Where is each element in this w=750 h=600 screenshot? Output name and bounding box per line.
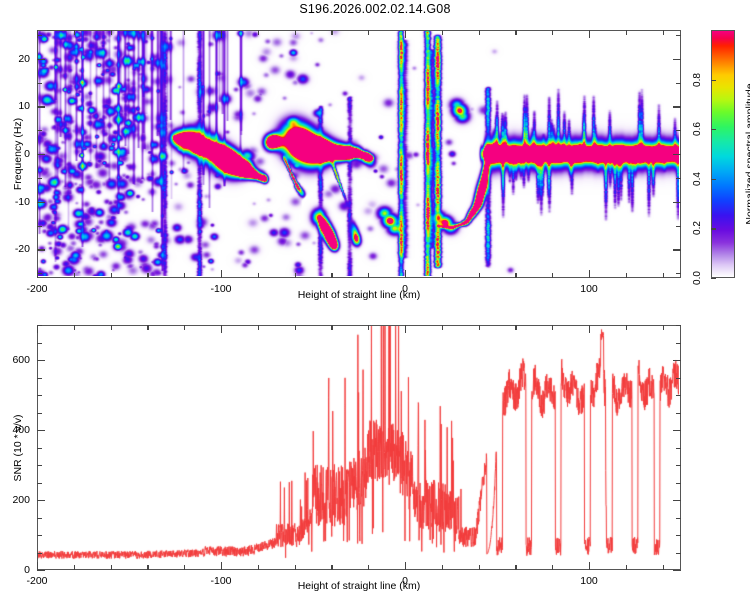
spectrogram-tick-label: 10 <box>18 100 30 112</box>
snr-tick-label: 100 <box>580 575 598 587</box>
snr-tick-mark <box>258 325 259 330</box>
snr-plot-area <box>38 326 679 568</box>
snr-tick-mark <box>676 395 681 396</box>
spectrogram-tick-mark <box>295 273 296 278</box>
spectrogram-tick-label: -10 <box>15 196 30 208</box>
snr-tick-mark <box>405 562 406 570</box>
snr-tick-mark <box>184 565 185 570</box>
spectrogram-tick-mark <box>663 30 664 35</box>
colorbar-tick-mark <box>711 80 716 81</box>
snr-tick-mark <box>295 565 296 570</box>
colorbar-tick-mark <box>711 228 716 229</box>
spectrogram-tick-mark <box>37 59 45 60</box>
spectrogram-tick-label: -100 <box>210 283 231 295</box>
spectrogram-tick-mark <box>74 30 75 35</box>
spectrogram-tick-mark <box>331 273 332 278</box>
spectrogram-tick-mark <box>479 30 480 35</box>
spectrogram-tick-mark <box>37 130 42 131</box>
snr-xaxis-title: Height of straight line (km) <box>298 580 421 592</box>
snr-tick-mark <box>111 565 112 570</box>
spectrogram-tick-mark <box>147 273 148 278</box>
spectrogram-tick-mark <box>221 30 222 38</box>
snr-tick-mark <box>37 413 42 414</box>
snr-tick-mark <box>626 325 627 330</box>
snr-tick-mark <box>676 378 681 379</box>
spectrogram-tick-mark <box>676 83 681 84</box>
spectrogram-xaxis-title: Height of straight line (km) <box>298 289 421 301</box>
snr-tick-mark <box>663 565 664 570</box>
snr-tick-mark <box>589 325 590 333</box>
snr-tick-mark <box>676 448 681 449</box>
spectrogram-tick-mark <box>626 30 627 35</box>
spectrogram-tick-mark <box>479 273 480 278</box>
colorbar-gradient <box>711 30 735 278</box>
snr-tick-mark <box>442 565 443 570</box>
spectrogram-yaxis-title: Frequency (Hz) <box>12 118 24 190</box>
colorbar-title: Normalized spectral amplitude <box>744 83 750 224</box>
snr-tick-mark <box>676 553 681 554</box>
snr-tick-mark <box>37 343 42 344</box>
snr-tick-mark <box>626 565 627 570</box>
spectrogram-tick-mark <box>37 154 45 155</box>
spectrogram-tick-mark <box>37 106 45 107</box>
spectrogram-tick-mark <box>37 202 45 203</box>
colorbar-tick-label: 0.0 <box>692 271 703 285</box>
snr-tick-mark <box>37 325 38 333</box>
spectrogram-tick-mark <box>368 30 369 35</box>
snr-tick-mark <box>479 565 480 570</box>
colorbar-tick-mark <box>711 278 716 279</box>
spectrogram-tick-mark <box>111 273 112 278</box>
snr-tick-mark <box>37 570 45 571</box>
spectrogram-tick-mark <box>442 273 443 278</box>
spectrogram-tick-mark <box>676 273 681 274</box>
spectrogram-tick-mark <box>676 130 681 131</box>
spectrogram-canvas <box>38 31 679 276</box>
snr-tick-mark <box>405 325 406 333</box>
colorbar-tick-label: 0.6 <box>692 122 703 136</box>
spectrogram-tick-mark <box>147 30 148 35</box>
snr-tick-mark <box>515 325 516 330</box>
spectrogram-tick-label: 0 <box>24 148 30 160</box>
snr-tick-mark <box>147 565 148 570</box>
spectrogram-tick-mark <box>673 106 681 107</box>
snr-tick-mark <box>676 483 681 484</box>
colorbar-tick-mark <box>711 129 716 130</box>
snr-tick-mark <box>37 378 42 379</box>
spectrogram-tick-mark <box>589 30 590 38</box>
spectrogram-tick-mark <box>552 30 553 35</box>
snr-tick-mark <box>676 518 681 519</box>
spectrogram-tick-mark <box>37 273 42 274</box>
snr-tick-mark <box>676 343 681 344</box>
spectrogram-tick-mark <box>663 273 664 278</box>
snr-tick-mark <box>673 500 681 501</box>
snr-tick-mark <box>37 325 42 326</box>
spectrogram-tick-mark <box>673 154 681 155</box>
snr-tick-mark <box>147 325 148 330</box>
snr-tick-mark <box>37 518 42 519</box>
spectrogram-tick-mark <box>37 226 42 227</box>
snr-tick-mark <box>331 325 332 330</box>
spectrogram-tick-mark <box>442 30 443 35</box>
spectrogram-tick-mark <box>676 226 681 227</box>
snr-tick-mark <box>676 325 681 326</box>
spectrogram-tick-mark <box>673 202 681 203</box>
spectrogram-tick-label: 100 <box>580 283 598 295</box>
spectrogram-tick-mark <box>184 273 185 278</box>
snr-tick-mark <box>589 562 590 570</box>
snr-tick-mark <box>37 360 45 361</box>
snr-tick-mark <box>37 465 42 466</box>
spectrogram-tick-mark <box>515 30 516 35</box>
spectrogram-tick-mark <box>368 273 369 278</box>
snr-tick-label: -100 <box>210 575 231 587</box>
spectrogram-tick-mark <box>37 35 42 36</box>
snr-yaxis-title: SNR (10 * v/v) <box>12 414 24 481</box>
snr-tick-mark <box>368 565 369 570</box>
spectrogram-tick-mark <box>184 30 185 35</box>
snr-tick-label: -200 <box>26 575 47 587</box>
spectrogram-tick-mark <box>552 273 553 278</box>
spectrogram-tick-mark <box>74 273 75 278</box>
spectrogram-tick-mark <box>676 35 681 36</box>
colorbar-tick-label: 0.2 <box>692 221 703 235</box>
spectrogram-tick-mark <box>515 273 516 278</box>
snr-tick-mark <box>295 325 296 330</box>
spectrogram-tick-mark <box>221 270 222 278</box>
colorbar-tick-label: 0.8 <box>692 73 703 87</box>
spectrogram-tick-mark <box>405 270 406 278</box>
snr-tick-mark <box>673 360 681 361</box>
spectrogram-tick-mark <box>258 273 259 278</box>
snr-tick-mark <box>37 430 45 431</box>
snr-tick-mark <box>515 565 516 570</box>
snr-tick-mark <box>37 562 38 570</box>
spectrogram-tick-mark <box>295 30 296 35</box>
spectrogram-tick-mark <box>626 273 627 278</box>
spectrogram-tick-mark <box>37 83 42 84</box>
snr-tick-mark <box>258 565 259 570</box>
snr-tick-mark <box>74 565 75 570</box>
snr-tick-mark <box>676 413 681 414</box>
figure-title: S196.2026.002.02.14.G08 <box>0 2 750 16</box>
snr-canvas <box>38 326 679 568</box>
snr-tick-mark <box>37 553 42 554</box>
spectrogram-tick-label: -200 <box>26 283 47 295</box>
snr-tick-label: 0 <box>24 564 30 576</box>
snr-tick-mark <box>331 565 332 570</box>
spectrogram-tick-label: -20 <box>15 243 30 255</box>
snr-tick-mark <box>37 448 42 449</box>
snr-tick-mark <box>442 325 443 330</box>
snr-tick-mark <box>111 325 112 330</box>
spectrogram-tick-mark <box>258 30 259 35</box>
spectrogram-tick-mark <box>111 30 112 35</box>
snr-tick-mark <box>676 465 681 466</box>
snr-tick-label: 200 <box>12 494 30 506</box>
snr-tick-mark <box>673 430 681 431</box>
snr-tick-mark <box>368 325 369 330</box>
spectrogram-tick-mark <box>673 59 681 60</box>
snr-tick-mark <box>221 325 222 333</box>
snr-tick-mark <box>663 325 664 330</box>
snr-tick-mark <box>221 562 222 570</box>
spectrogram-tick-mark <box>37 178 42 179</box>
snr-tick-mark <box>37 395 42 396</box>
colorbar-tick-mark <box>711 179 716 180</box>
snr-tick-mark <box>37 535 42 536</box>
snr-tick-mark <box>673 570 681 571</box>
spectrogram-plot-area <box>38 31 679 276</box>
spectrogram-tick-label: 20 <box>18 53 30 65</box>
snr-tick-mark <box>74 325 75 330</box>
snr-tick-mark <box>552 565 553 570</box>
snr-tick-mark <box>184 325 185 330</box>
spectrogram-tick-mark <box>331 30 332 35</box>
snr-tick-mark <box>37 500 45 501</box>
spectrogram-tick-mark <box>589 270 590 278</box>
spectrogram-tick-mark <box>673 249 681 250</box>
colorbar-tick-label: 0.4 <box>692 172 703 186</box>
spectrogram-tick-mark <box>37 249 45 250</box>
snr-tick-label: 600 <box>12 354 30 366</box>
spectrogram-tick-mark <box>405 30 406 38</box>
snr-tick-mark <box>552 325 553 330</box>
snr-tick-mark <box>479 325 480 330</box>
figure-root: S196.2026.002.02.14.G08 -200-10001002010… <box>0 0 750 600</box>
snr-tick-mark <box>37 483 42 484</box>
spectrogram-tick-mark <box>676 178 681 179</box>
snr-tick-mark <box>676 535 681 536</box>
